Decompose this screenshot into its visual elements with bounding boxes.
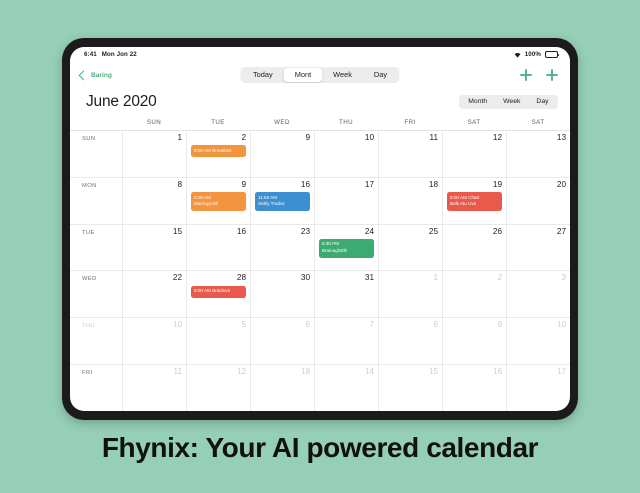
day-number: 30	[255, 274, 310, 282]
tablet-device: 6:41 Mon Jon 22 100% Baring	[62, 38, 578, 420]
calendar-week-row: TUE151623245:30 PMBrainoghEllt252627	[70, 225, 570, 272]
day-number: 9	[447, 321, 502, 329]
event-time: 9:00 AM Chart	[450, 195, 499, 202]
day-number: 20	[511, 181, 566, 189]
day-number: 28	[191, 274, 246, 282]
calendar-week-row: SUN128:00 AM Breakfast910111213	[70, 131, 570, 178]
calendar-day-cell[interactable]: 26	[442, 225, 506, 271]
calendar-event[interactable]: 8:00 AM Breakfast	[191, 145, 246, 157]
chevron-left-icon	[79, 70, 89, 80]
day-number: 6	[255, 321, 310, 329]
day-number: 10	[319, 134, 374, 142]
calendar-day-cell[interactable]: 13	[506, 131, 570, 177]
calendar-day-cell[interactable]: 18	[378, 178, 442, 224]
status-bar-left: 6:41 Mon Jon 22	[84, 51, 137, 58]
event-title: Sebly Trudvs	[258, 201, 307, 208]
calendar-day-cell[interactable]: 90:00 AMMacroyyroll	[186, 178, 250, 224]
event-time: 9:00 AM Braiduvs	[194, 288, 243, 295]
calendar-day-cell[interactable]: 199:00 AM ChartBelk Atu Uvs	[442, 178, 506, 224]
day-number: 14	[319, 368, 374, 376]
calendar-day-cell[interactable]: 11	[378, 131, 442, 177]
weekday-header: WED	[250, 116, 314, 130]
plus-icon[interactable]	[520, 69, 532, 81]
event-title: BrainoghEllt	[322, 248, 371, 255]
event-time: 0:00 AM	[194, 195, 243, 202]
status-bar: 6:41 Mon Jon 22 100%	[70, 47, 570, 62]
day-number: 11	[383, 134, 438, 142]
calendar-day-cell[interactable]: 16	[186, 225, 250, 271]
calendar-day-cell[interactable]: 28:00 AM Breakfast	[186, 131, 250, 177]
status-date: Mon Jon 22	[102, 51, 137, 58]
calendar-day-cell[interactable]: 17	[506, 365, 570, 411]
calendar-event[interactable]: 0:00 AMMacroyyroll	[191, 192, 246, 211]
day-number: 3	[511, 274, 566, 282]
day-number: 2	[191, 134, 246, 142]
calendar-event[interactable]: 11:50 AMSebly Trudvs	[255, 192, 310, 211]
add-event-plus-icon[interactable]	[546, 69, 558, 81]
wifi-icon	[514, 52, 521, 58]
calendar-day-cell[interactable]: 14	[314, 365, 378, 411]
calendar-day-cell[interactable]: 25	[378, 225, 442, 271]
week-row-label: SUN	[70, 131, 122, 177]
calendar-week-row: MON890:00 AMMacroyyroll1611:50 AMSebly T…	[70, 178, 570, 225]
week-row-label: THU	[70, 318, 122, 364]
navigation-bar: Baring Today Mont Week Day	[70, 62, 570, 88]
day-number: 6	[383, 321, 438, 329]
calendar-day-cell[interactable]: 31	[314, 271, 378, 317]
back-button-label: Baring	[91, 72, 112, 79]
status-time: 6:41	[84, 51, 97, 58]
calendar-week-row: THU105676910	[70, 318, 570, 365]
weekday-header-row: SUNTUEWEDTHUFRISATSAT	[70, 116, 570, 131]
calendar-day-cell[interactable]: 22	[122, 271, 186, 317]
day-number: 5	[191, 321, 246, 329]
day-number: 1	[127, 134, 182, 142]
calendar-day-cell[interactable]: 27	[506, 225, 570, 271]
calendar-day-cell[interactable]: 9	[250, 131, 314, 177]
day-number: 9	[255, 134, 310, 142]
view-segmented-control-top[interactable]: Today Mont Week Day	[240, 67, 399, 83]
view-segment-week[interactable]: Week	[495, 96, 528, 108]
day-number: 1	[383, 274, 438, 282]
week-row-label: FRI	[70, 365, 122, 411]
battery-icon	[545, 51, 558, 58]
event-title: Macroyyroll	[194, 201, 243, 208]
calendar-day-cell[interactable]: 17	[314, 178, 378, 224]
day-number: 18	[255, 368, 310, 376]
event-title: Belk Atu Uvs	[450, 201, 499, 208]
week-row-label: TUE	[70, 225, 122, 271]
weekday-header: SAT	[442, 116, 506, 130]
week-row-label: WED	[70, 271, 122, 317]
calendar-day-cell[interactable]: 10	[122, 318, 186, 364]
calendar-day-cell[interactable]: 12	[442, 131, 506, 177]
calendar-week-row: FRI11121814151617	[70, 365, 570, 411]
day-number: 15	[383, 368, 438, 376]
calendar-day-cell[interactable]: 1	[378, 271, 442, 317]
calendar-day-cell[interactable]: 10	[314, 131, 378, 177]
day-number: 17	[319, 181, 374, 189]
calendar-week-row: WED22289:00 AM Braiduvs3031123	[70, 271, 570, 318]
day-number: 7	[319, 321, 374, 329]
title-row: June 2020 Month Week Day	[70, 88, 570, 116]
calendar-day-cell[interactable]: 5	[186, 318, 250, 364]
day-number: 31	[319, 274, 374, 282]
event-time: 5:30 PM	[322, 241, 371, 248]
calendar-day-cell[interactable]: 289:00 AM Braiduvs	[186, 271, 250, 317]
day-number: 15	[127, 228, 182, 236]
day-number: 16	[191, 228, 246, 236]
week-row-label: MON	[70, 178, 122, 224]
calendar-day-cell[interactable]: 1	[122, 131, 186, 177]
calendar-day-cell[interactable]: 18	[250, 365, 314, 411]
day-number: 26	[447, 228, 502, 236]
caption-text: Fhynix: Your AI powered calendar	[0, 432, 640, 464]
view-segmented-control-right[interactable]: Month Week Day	[459, 95, 558, 110]
calendar-day-cell[interactable]: 15	[378, 365, 442, 411]
day-number: 24	[319, 228, 374, 236]
segment-today[interactable]: Today	[242, 68, 284, 81]
day-number: 27	[511, 228, 566, 236]
calendar-grid: SUN128:00 AM Breakfast910111213MON890:00…	[70, 131, 570, 411]
calendar-day-cell[interactable]: 1611:50 AMSebly Trudvs	[250, 178, 314, 224]
weekday-header: TUE	[186, 116, 250, 130]
page-title: June 2020	[86, 93, 157, 111]
day-number: 16	[255, 181, 310, 189]
calendar-day-cell[interactable]: 11	[122, 365, 186, 411]
view-segment-month[interactable]: Month	[460, 96, 495, 108]
nav-actions	[520, 69, 558, 81]
day-number: 19	[447, 181, 502, 189]
segment-day[interactable]: Day	[363, 68, 398, 81]
segment-week[interactable]: Week	[322, 68, 363, 81]
calendar-day-cell[interactable]: 23	[250, 225, 314, 271]
calendar-day-cell[interactable]: 6	[250, 318, 314, 364]
status-bar-right: 100%	[514, 51, 558, 58]
calendar-day-cell[interactable]: 16	[442, 365, 506, 411]
day-number: 16	[447, 368, 502, 376]
weekday-header: SAT	[506, 116, 570, 130]
calendar-day-cell[interactable]: 10	[506, 318, 570, 364]
day-number: 2	[447, 274, 502, 282]
day-number: 17	[511, 368, 566, 376]
day-number: 12	[191, 368, 246, 376]
day-number: 8	[127, 181, 182, 189]
calendar-day-cell[interactable]: 6	[378, 318, 442, 364]
view-segment-day[interactable]: Day	[528, 96, 556, 108]
weekday-header: THU	[314, 116, 378, 130]
tablet-screen: 6:41 Mon Jon 22 100% Baring	[70, 47, 570, 411]
calendar-event[interactable]: 9:00 AM Braiduvs	[191, 286, 246, 298]
calendar-day-cell[interactable]: 20	[506, 178, 570, 224]
day-number: 9	[191, 181, 246, 189]
event-time: 8:00 AM Breakfast	[194, 148, 243, 155]
day-number: 12	[447, 134, 502, 142]
calendar-day-cell[interactable]: 3	[506, 271, 570, 317]
day-number: 18	[383, 181, 438, 189]
calendar-day-cell[interactable]: 9	[442, 318, 506, 364]
calendar-day-cell[interactable]: 12	[186, 365, 250, 411]
day-number: 25	[383, 228, 438, 236]
day-number: 13	[511, 134, 566, 142]
event-time: 11:50 AM	[258, 195, 307, 202]
calendar-day-cell[interactable]: 245:30 PMBrainoghEllt	[314, 225, 378, 271]
calendar-day-cell[interactable]: 30	[250, 271, 314, 317]
weekday-header: FRI	[378, 116, 442, 130]
calendar-day-cell[interactable]: 15	[122, 225, 186, 271]
day-number: 22	[127, 274, 182, 282]
day-number: 23	[255, 228, 310, 236]
calendar-event[interactable]: 5:30 PMBrainoghEllt	[319, 239, 374, 258]
calendar-day-cell[interactable]: 8	[122, 178, 186, 224]
battery-percent-label: 100%	[525, 51, 541, 58]
day-number: 11	[127, 368, 182, 376]
calendar-day-cell[interactable]: 7	[314, 318, 378, 364]
day-number: 10	[511, 321, 566, 329]
day-number: 10	[127, 321, 182, 329]
back-button[interactable]: Baring	[80, 72, 112, 79]
weekday-header: SUN	[122, 116, 186, 130]
calendar-day-cell[interactable]: 2	[442, 271, 506, 317]
segment-month[interactable]: Mont	[284, 68, 322, 81]
calendar-event[interactable]: 9:00 AM ChartBelk Atu Uvs	[447, 192, 502, 211]
